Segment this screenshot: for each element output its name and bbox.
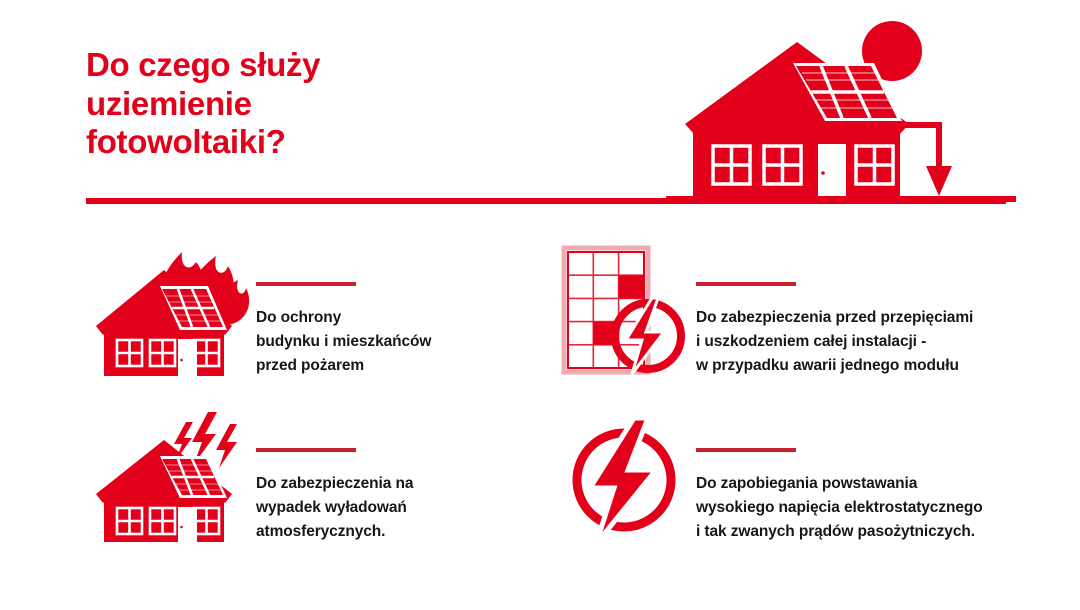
benefit-body: Do ochrony budynku i mieszkańców przed p… <box>256 236 516 378</box>
benefit-rule <box>696 448 796 452</box>
benefit-text: Do ochrony budynku i mieszkańców przed p… <box>256 306 516 378</box>
house-door <box>818 144 846 196</box>
house-on-fire-icon <box>86 236 256 386</box>
house-struck-by-lightning-icon <box>86 402 256 552</box>
benefit-body: Do zabezpieczenia na wypadek wyładowań a… <box>256 402 516 544</box>
benefit-text: Do zabezpieczenia na wypadek wyładowań a… <box>256 472 516 544</box>
benefit-body: Do zabezpieczenia przed przepięciami i u… <box>696 236 1026 378</box>
benefit-rule <box>256 282 356 286</box>
benefit-text: Do zabezpieczenia przed przepięciami i u… <box>696 306 1026 378</box>
lightning-bolt-in-circle-icon <box>556 402 696 552</box>
solar-panel-fault-lightning-icon <box>556 236 696 386</box>
benefit-item-lightning-protection: Do zabezpieczenia na wypadek wyładowań a… <box>86 402 516 552</box>
benefit-item-surge-protection: Do zabezpieczenia przed przepięciami i u… <box>556 236 1026 386</box>
hero-illustration <box>666 18 1016 204</box>
page-title: Do czego służy uziemienie fotowoltaiki? <box>86 46 646 162</box>
benefit-rule <box>696 282 796 286</box>
benefit-text: Do zapobiegania powstawania wysokiego na… <box>696 472 1026 544</box>
benefit-item-static-discharge: Do zapobiegania powstawania wysokiego na… <box>556 402 1026 552</box>
benefit-body: Do zapobiegania powstawania wysokiego na… <box>696 402 1026 544</box>
benefit-rule <box>256 448 356 452</box>
grounding-arrow-head <box>926 166 952 196</box>
ground-line <box>666 196 1016 202</box>
benefit-item-fire-protection: Do ochrony budynku i mieszkańców przed p… <box>86 236 516 386</box>
